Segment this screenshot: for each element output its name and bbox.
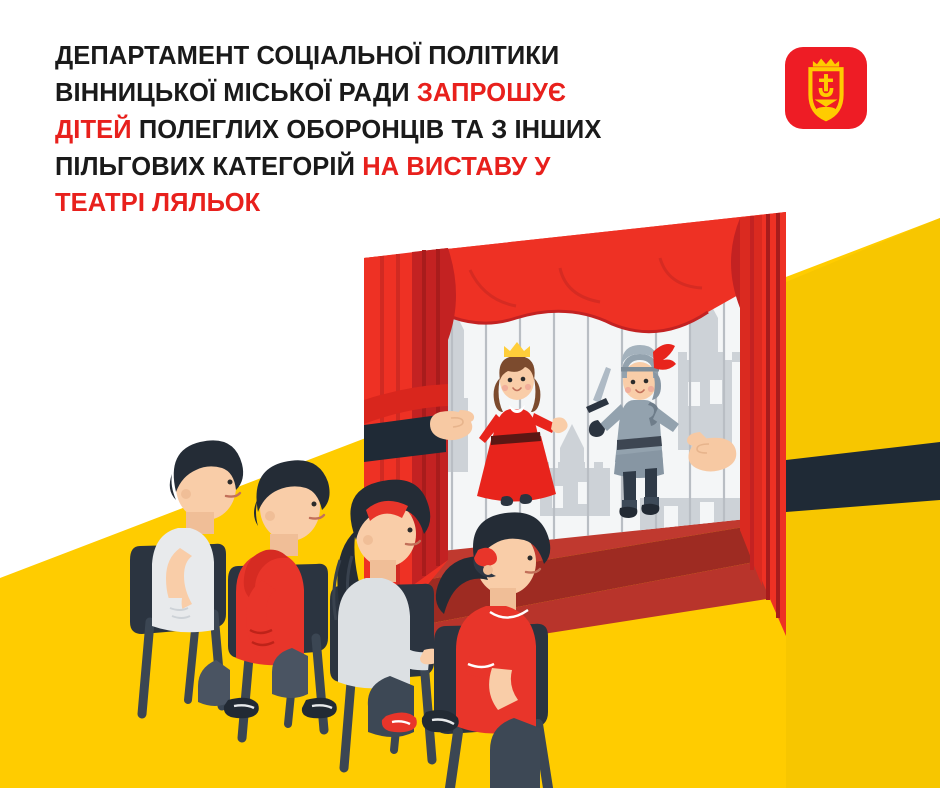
headline-line-4: ПІЛЬГОВИХ КАТЕГОРІЙ НА ВИСТАВУ У [55,149,715,186]
headline-line-5: ТЕАТРІ ЛЯЛЬОК [55,185,715,222]
headline-segment-2-1: ВІННИЦЬКОЇ МІСЬКОЇ РАДИ [55,79,417,107]
headline-segment-3-2: ПОЛЕГЛИХ ОБОРОНЦІВ ТА З ІНШИХ [132,116,602,144]
headline-segment-3-1: ДІТЕЙ [55,116,132,144]
headline-segment-5-1: ТЕАТРІ ЛЯЛЬОК [55,189,260,217]
headline-segment-1-1: ДЕПАРТАМЕНТ СОЦІАЛЬНОЇ ПОЛІТИКИ [55,42,559,70]
headline-line-1: ДЕПАРТАМЕНТ СОЦІАЛЬНОЇ ПОЛІТИКИ [55,38,715,75]
headline-line-2: ВІННИЦЬКОЇ МІСЬКОЇ РАДИ ЗАПРОШУЄ [55,75,715,112]
page-title: ДЕПАРТАМЕНТ СОЦІАЛЬНОЇ ПОЛІТИКИВІННИЦЬКО… [55,38,715,222]
headline-segment-4-1: ПІЛЬГОВИХ КАТЕГОРІЙ [55,153,362,181]
headline-segment-2-2: ЗАПРОШУЄ [417,79,566,107]
right-wall-plane [786,218,940,788]
headline-line-3: ДІТЕЙ ПОЛЕГЛИХ ОБОРОНЦІВ ТА З ІНШИХ [55,112,715,149]
headline-segment-4-2: НА ВИСТАВУ У [362,153,550,181]
poster-canvas: ДЕПАРТАМЕНТ СОЦІАЛЬНОЇ ПОЛІТИКИВІННИЦЬКО… [0,0,940,788]
vinnytsia-coat-of-arms-logo [785,47,867,129]
